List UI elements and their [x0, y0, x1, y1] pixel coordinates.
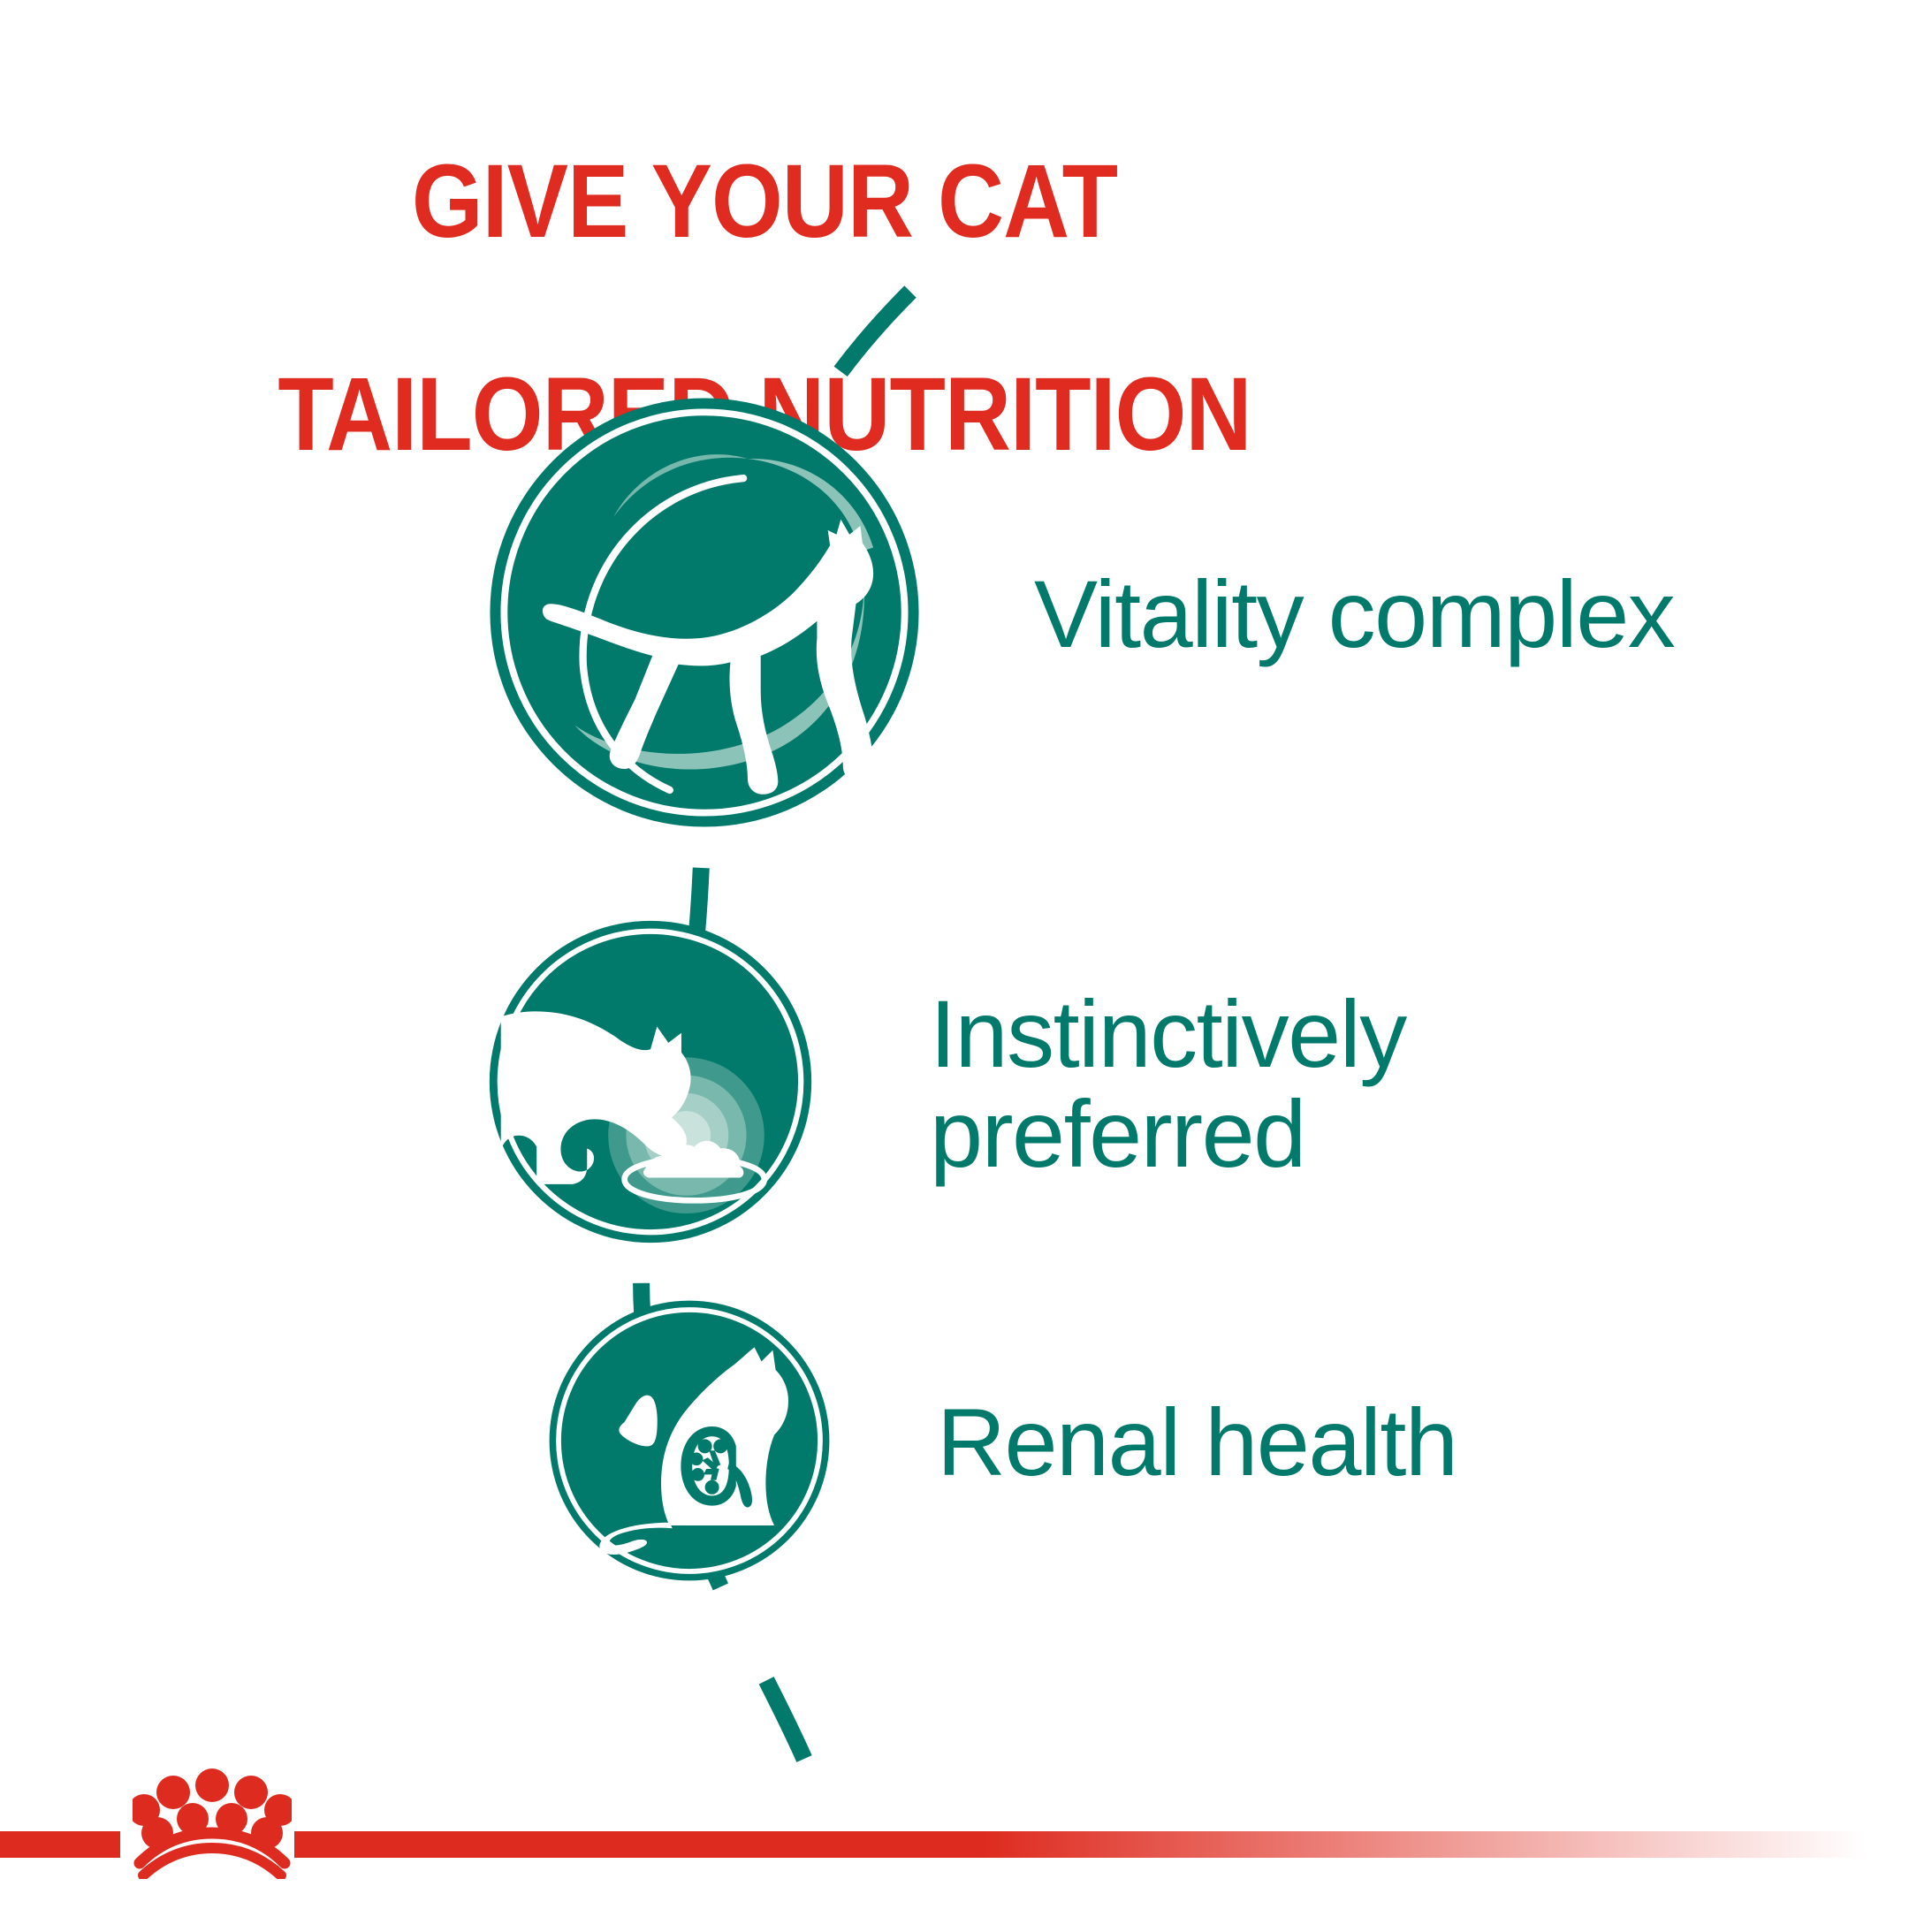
cat-kidney-icon [548, 1299, 831, 1586]
footer-bar-right-segment [294, 1831, 1932, 1858]
royal-canin-crown-icon [133, 1764, 292, 1883]
feature-row-vitality-complex[interactable]: Vitality complex [488, 396, 1674, 833]
page-title-line-1: GIVE YOUR CAT [92, 148, 1437, 255]
feature-row-instinctively-preferred[interactable]: Instinctively preferred [488, 919, 1406, 1249]
footer-brand-bar [0, 1755, 1932, 1932]
cat-eating-from-bowl-icon [488, 919, 813, 1249]
feature-label-vitality-complex: Vitality complex [1034, 565, 1674, 664]
feature-row-renal-health[interactable]: Renal health [548, 1299, 1457, 1586]
walking-cat-icon [488, 396, 921, 833]
feature-label-renal-health: Renal health [937, 1393, 1457, 1492]
poster-canvas: GIVE YOUR CAT TAILORED NUTRITION [0, 0, 1932, 1932]
feature-label-instinctively-preferred: Instinctively preferred [930, 985, 1406, 1183]
footer-bar-left-segment [0, 1831, 120, 1858]
